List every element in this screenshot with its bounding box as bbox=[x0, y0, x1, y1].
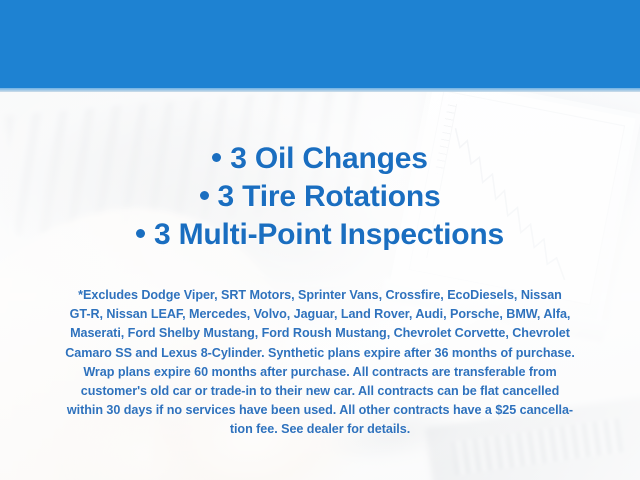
disclaimer-line: tion fee. See dealer for details. bbox=[26, 420, 614, 439]
benefits-list: 3 Oil Changes 3 Tire Rotations 3 Multi-P… bbox=[0, 140, 640, 254]
header-banner bbox=[0, 0, 640, 88]
list-item: 3 Oil Changes bbox=[0, 140, 640, 178]
header-banner-bottom-edge bbox=[0, 88, 640, 92]
disclaimer-text: *Excludes Dodge Viper, SRT Motors, Sprin… bbox=[26, 286, 614, 440]
list-item-label: 3 Multi-Point Inspections bbox=[154, 218, 504, 251]
disclaimer-line: GT-R, Nissan LEAF, Mercedes, Volvo, Jagu… bbox=[26, 305, 614, 324]
disclaimer-line: customer's old car or trade-in to their … bbox=[26, 382, 614, 401]
bullet-dot-icon bbox=[136, 229, 145, 238]
disclaimer-line: Wrap plans expire 60 months after purcha… bbox=[26, 363, 614, 382]
extracare-package-ad: ExtraCare Package* 3 Oil Changes 3 Tire … bbox=[0, 0, 640, 480]
list-item: 3 Multi-Point Inspections bbox=[0, 216, 640, 254]
list-item-label: 3 Oil Changes bbox=[230, 142, 427, 175]
disclaimer-line: Maserati, Ford Shelby Mustang, Ford Rous… bbox=[26, 324, 614, 343]
disclaimer-line: Camaro SS and Lexus 8-Cylinder. Syntheti… bbox=[26, 344, 614, 363]
list-item-label: 3 Tire Rotations bbox=[218, 180, 441, 213]
bullet-dot-icon bbox=[200, 191, 209, 200]
disclaimer-line: within 30 days if no services have been … bbox=[26, 401, 614, 420]
disclaimer-line: *Excludes Dodge Viper, SRT Motors, Sprin… bbox=[26, 286, 614, 305]
list-item: 3 Tire Rotations bbox=[0, 178, 640, 216]
bullet-dot-icon bbox=[212, 153, 221, 162]
